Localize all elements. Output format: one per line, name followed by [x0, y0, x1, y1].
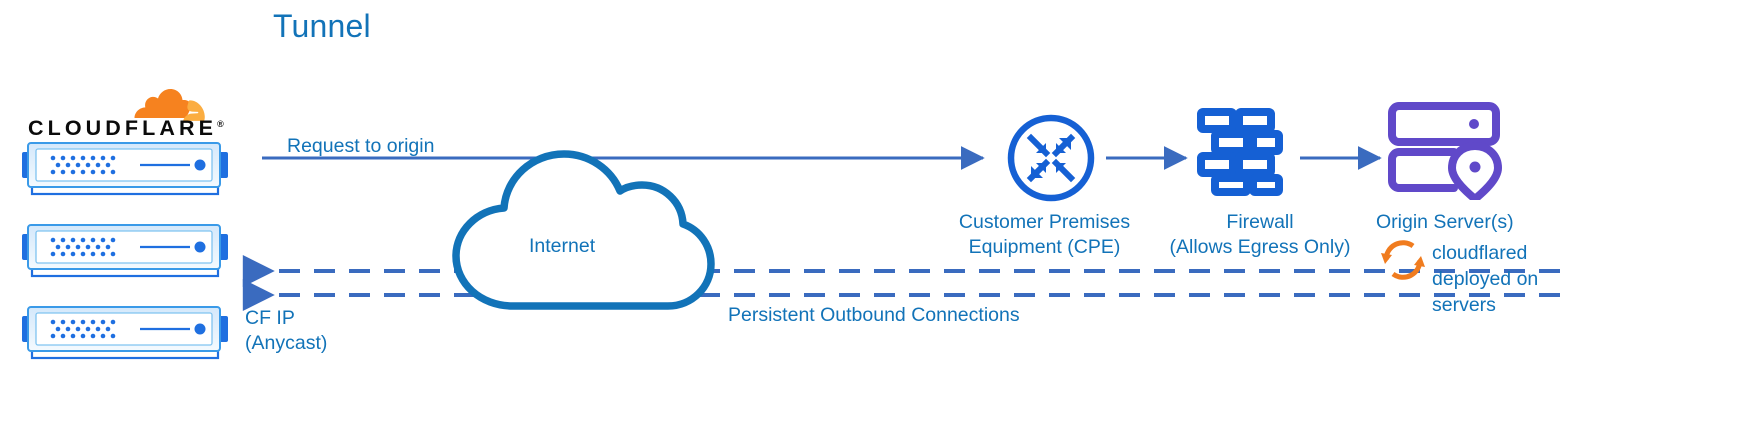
- sync-arrows-circle-icon: [1379, 236, 1427, 284]
- cpe-label: Customer Premises Equipment (CPE): [947, 210, 1142, 260]
- origin-server-label: Origin Server(s): [1376, 210, 1514, 235]
- request-to-origin-label: Request to origin: [287, 134, 434, 159]
- persistent-outbound-label: Persistent Outbound Connections: [728, 303, 1020, 328]
- cf-ip-label: CF IP (Anycast): [245, 306, 327, 356]
- internet-label: Internet: [529, 234, 595, 259]
- tunnel-architecture-diagram: Tunnel CLOUDFLARE®: [0, 0, 1754, 422]
- cf-ip-label-line1: CF IP: [245, 306, 327, 331]
- cpe-label-line1: Customer Premises: [947, 210, 1142, 235]
- router-arrows-circle-icon: [1005, 112, 1097, 204]
- cloud-outline-icon: [448, 138, 724, 314]
- cloudflared-label: cloudflared deployed on servers: [1432, 240, 1562, 318]
- cpe-label-line2: Equipment (CPE): [947, 235, 1142, 260]
- brick-wall-icon: [1193, 106, 1285, 196]
- firewall-label-line1: Firewall: [1160, 210, 1360, 235]
- firewall-label: Firewall (Allows Egress Only): [1160, 210, 1360, 260]
- firewall-label-line2: (Allows Egress Only): [1160, 235, 1360, 260]
- cf-ip-label-line2: (Anycast): [245, 331, 327, 356]
- server-location-pin-icon: [1386, 100, 1512, 200]
